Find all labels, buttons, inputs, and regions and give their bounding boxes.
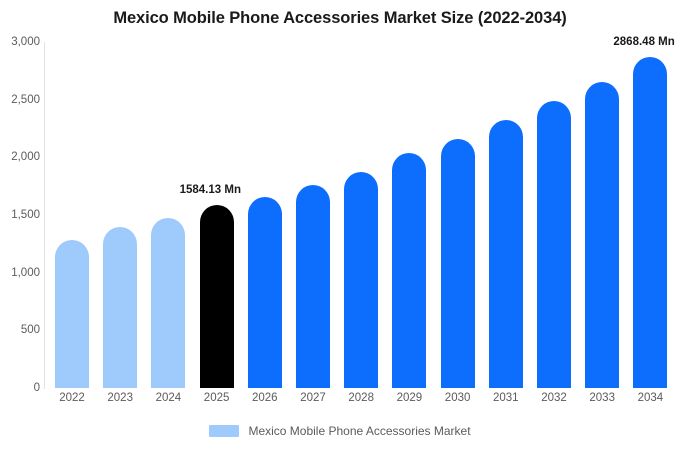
y-axis-tick-label: 1,000: [0, 267, 40, 279]
bar-2033[interactable]: [585, 42, 619, 388]
bar-rect-2025[interactable]: [200, 205, 234, 388]
chart-title: Mexico Mobile Phone Accessories Market S…: [0, 9, 680, 28]
bar-2023[interactable]: [103, 42, 137, 388]
bar-chart: Mexico Mobile Phone Accessories Market S…: [0, 0, 680, 450]
bar-2032[interactable]: [537, 42, 571, 388]
bar-2025[interactable]: [200, 42, 234, 388]
legend-label: Mexico Mobile Phone Accessories Market: [248, 424, 470, 438]
bar-rect-2034[interactable]: [633, 57, 667, 388]
plot-area: [44, 42, 680, 388]
bar-rect-2033[interactable]: [585, 82, 619, 388]
x-axis-tick-label-2034: 2034: [620, 392, 680, 404]
y-axis-tick-label: 2,500: [0, 94, 40, 106]
bar-rect-2024[interactable]: [151, 218, 185, 388]
bar-rect-2031[interactable]: [489, 120, 523, 388]
bar-rect-2027[interactable]: [296, 185, 330, 388]
bar-rect-2026[interactable]: [248, 197, 282, 388]
y-axis-tick-label: 0: [0, 382, 40, 394]
bar-rect-2023[interactable]: [103, 227, 137, 388]
y-axis: 05001,0001,5002,0002,5003,000: [0, 0, 40, 450]
bar-rect-2032[interactable]: [537, 101, 571, 388]
bar-2022[interactable]: [55, 42, 89, 388]
bar-2030[interactable]: [441, 42, 475, 388]
bar-2031[interactable]: [489, 42, 523, 388]
y-axis-tick-label: 500: [0, 324, 40, 336]
bar-2024[interactable]: [151, 42, 185, 388]
bar-rect-2022[interactable]: [55, 240, 89, 388]
bar-2029[interactable]: [392, 42, 426, 388]
bar-2028[interactable]: [344, 42, 378, 388]
y-axis-tick-label: 2,000: [0, 151, 40, 163]
bar-rect-2030[interactable]: [441, 139, 475, 388]
bar-2034[interactable]: [633, 42, 667, 388]
bar-2026[interactable]: [248, 42, 282, 388]
y-axis-tick-label: 3,000: [0, 36, 40, 48]
bar-value-label-2025: 1584.13 Mn: [180, 184, 241, 196]
y-axis-tick-label: 1,500: [0, 209, 40, 221]
bar-rect-2029[interactable]: [392, 153, 426, 388]
legend-swatch-mexico-mobile-phone-accessories-market: [209, 425, 239, 437]
bar-value-label-2034: 2868.48 Mn: [613, 36, 674, 48]
bar-2027[interactable]: [296, 42, 330, 388]
bar-rect-2028[interactable]: [344, 172, 378, 388]
chart-legend: Mexico Mobile Phone Accessories Market: [0, 424, 680, 438]
